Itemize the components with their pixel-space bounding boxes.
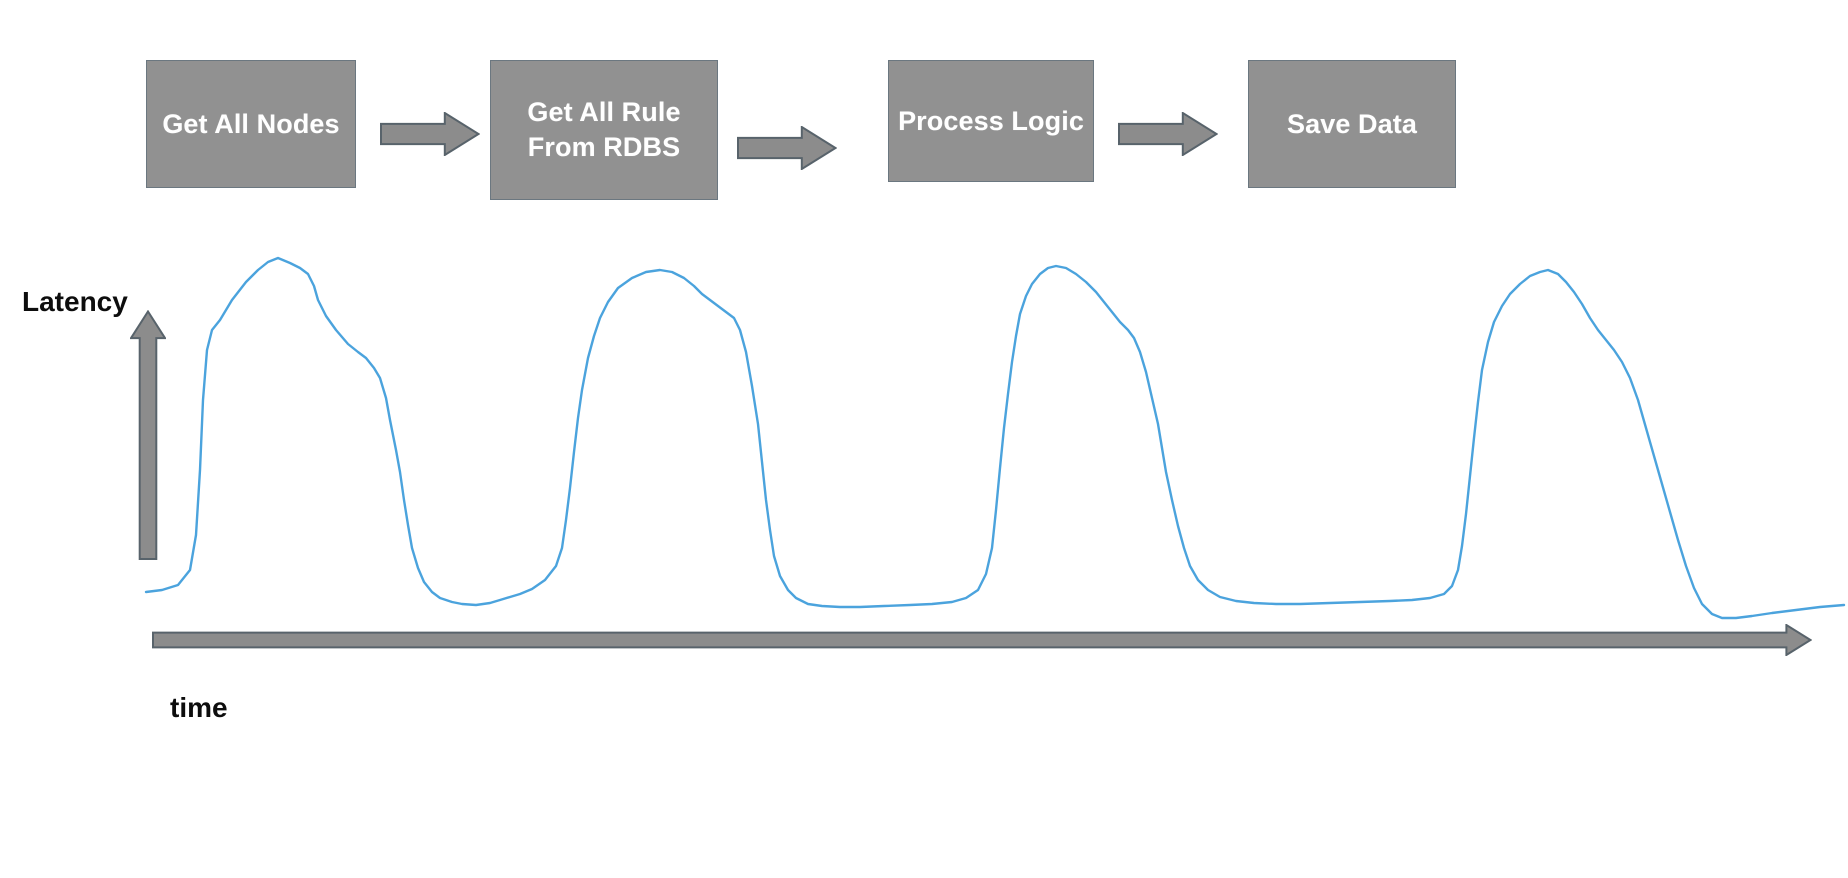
y-axis-label: Latency	[22, 286, 128, 318]
flow-arrow-right-icon-3	[1118, 112, 1218, 156]
diagram-canvas: Get All Nodes Get All RuleFrom RDBS Proc…	[0, 0, 1848, 878]
flow-box-label: Get All Nodes	[162, 107, 339, 142]
flow-box-process-logic[interactable]: Process Logic	[888, 60, 1094, 182]
arrow-right-icon	[152, 624, 1812, 656]
flow-arrow-right-icon-2	[737, 126, 837, 170]
flow-arrow-right-icon-1	[380, 112, 480, 156]
flow-box-label: Process Logic	[898, 104, 1084, 139]
flow-box-get-all-nodes[interactable]: Get All Nodes	[146, 60, 356, 188]
flow-box-save-data[interactable]: Save Data	[1248, 60, 1456, 188]
flow-box-get-all-rule[interactable]: Get All RuleFrom RDBS	[490, 60, 718, 200]
flow-box-label: Save Data	[1287, 107, 1417, 142]
arrow-up-icon	[130, 310, 166, 560]
flow-box-label: Get All RuleFrom RDBS	[527, 95, 680, 164]
latency-curve-line	[146, 258, 1844, 618]
x-axis-label: time	[170, 692, 228, 724]
